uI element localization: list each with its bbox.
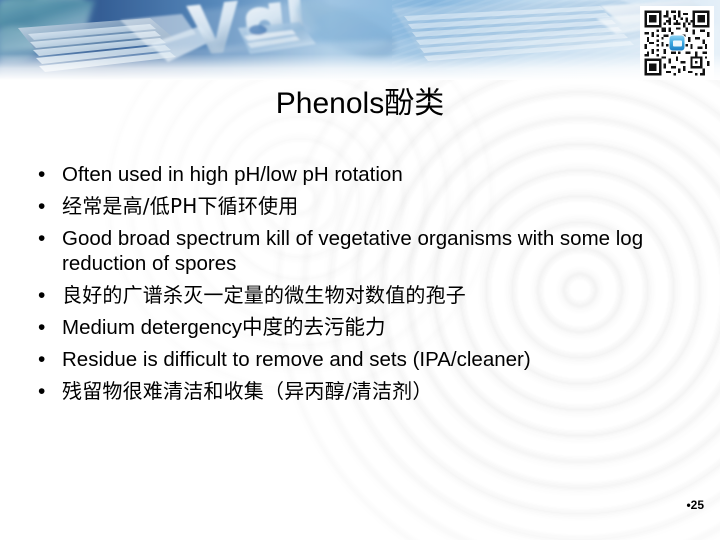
list-item: • Good broad spectrum kill of vegetative… [30,226,680,276]
banner-photo-collage [0,0,720,80]
qr-code[interactable] [640,6,714,80]
bullet-text-6: Residue is difficult to remove and sets … [62,347,680,372]
list-item: • 良好的广谱杀灭一定量的微生物对数值的孢子 [30,283,680,308]
bullet-marker-icon: • [30,283,62,308]
bullet-marker-icon: • [30,347,62,372]
bullet-text-3: Good broad spectrum kill of vegetative o… [62,226,680,276]
list-item: • 经常是高/低PH下循环使用 [30,194,680,219]
list-item: • Residue is difficult to remove and set… [30,347,680,372]
page-title: Phenols酚类 [0,86,720,122]
bullet-text-2: 经常是高/低PH下循环使用 [62,194,680,219]
list-item: • Often used in high pH/low pH rotation [30,162,680,187]
slide-canvas: Phenols酚类 • Often used in high pH/low pH… [0,0,720,540]
bullet-marker-icon: • [30,315,62,340]
bullet-text-4: 良好的广谱杀灭一定量的微生物对数值的孢子 [62,283,680,308]
bullet-marker-icon: • [30,379,62,404]
bullet-text-5: Medium detergency中度的去污能力 [62,315,680,340]
page-number: •25 [686,498,704,512]
list-item: • Medium detergency中度的去污能力 [30,315,680,340]
bullet-marker-icon: • [30,226,62,251]
bullet-text-1: Often used in high pH/low pH rotation [62,162,680,187]
list-item: • 残留物很难清洁和收集（异丙醇/清洁剂） [30,379,680,404]
bullet-marker-icon: • [30,194,62,219]
bullet-marker-icon: • [30,162,62,187]
bullet-text-7: 残留物很难清洁和收集（异丙醇/清洁剂） [62,379,680,404]
app-badge-icon [669,35,686,52]
bullet-list: • Often used in high pH/low pH rotation … [30,162,680,411]
header-banner [0,0,720,80]
